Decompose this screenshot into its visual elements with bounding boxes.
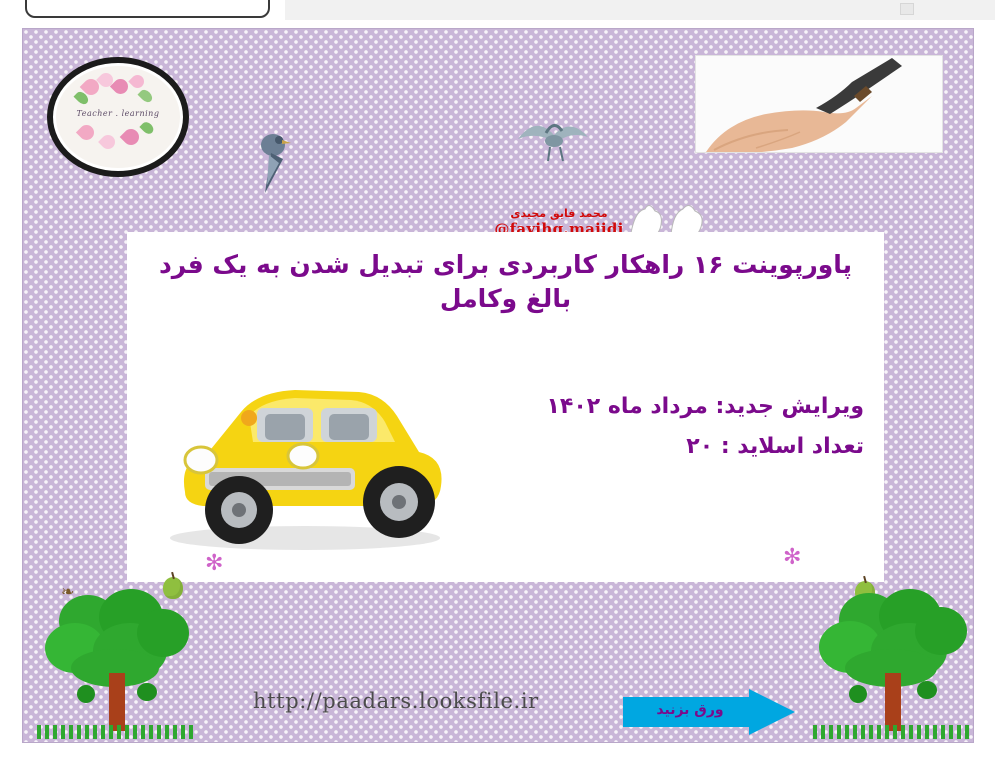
card-meta: ویرایش جدید: مرداد ماه ۱۴۰۲ تعداد اسلاید… [394,387,864,467]
leaf-icon [139,120,155,136]
sparkle-icon: ✻ [205,553,223,575]
right-arrow-icon [749,689,795,735]
flower-petal-icon [128,72,146,90]
slide-canvas: Teacher . learning محمد فایق مجیدی [22,28,974,743]
browser-tab[interactable] [25,0,270,18]
page-title: پاورپوینت ۱۶ راهکار کاربردی برای تبدیل ش… [137,248,874,316]
next-slide-label: ورق بزنید [631,702,749,718]
bird-icon [251,129,299,197]
flower-petal-icon [98,132,118,152]
bottom-strip [0,744,995,770]
website-url[interactable]: http://paadars.looksfile.ir [253,689,539,713]
flower-petal-icon [120,126,143,149]
sparkle-icon: ✻ [783,547,801,569]
slide-count-text: تعداد اسلاید : ۲۰ [394,427,864,467]
signature-name: محمد فایق مجیدی [479,207,639,221]
browser-top-strip [0,0,995,24]
tree-icon [813,589,973,739]
revision-text: ویرایش جدید: مرداد ماه ۱۴۰۲ [394,387,864,427]
next-slide-button[interactable]: ورق بزنید [623,689,798,737]
leaf-icon [138,88,155,105]
flying-bird-icon [508,109,598,169]
logo-badge: Teacher . learning [47,57,189,177]
toolbar-band [285,0,995,20]
content-card: پاورپوینت ۱۶ راهکار کاربردی برای تبدیل ش… [127,232,884,582]
flower-petal-icon [76,122,97,143]
logo-text: Teacher . learning [53,109,183,118]
tree-icon [37,589,197,739]
toolbar-button[interactable] [900,3,914,15]
hand-writing-photo [695,55,943,153]
